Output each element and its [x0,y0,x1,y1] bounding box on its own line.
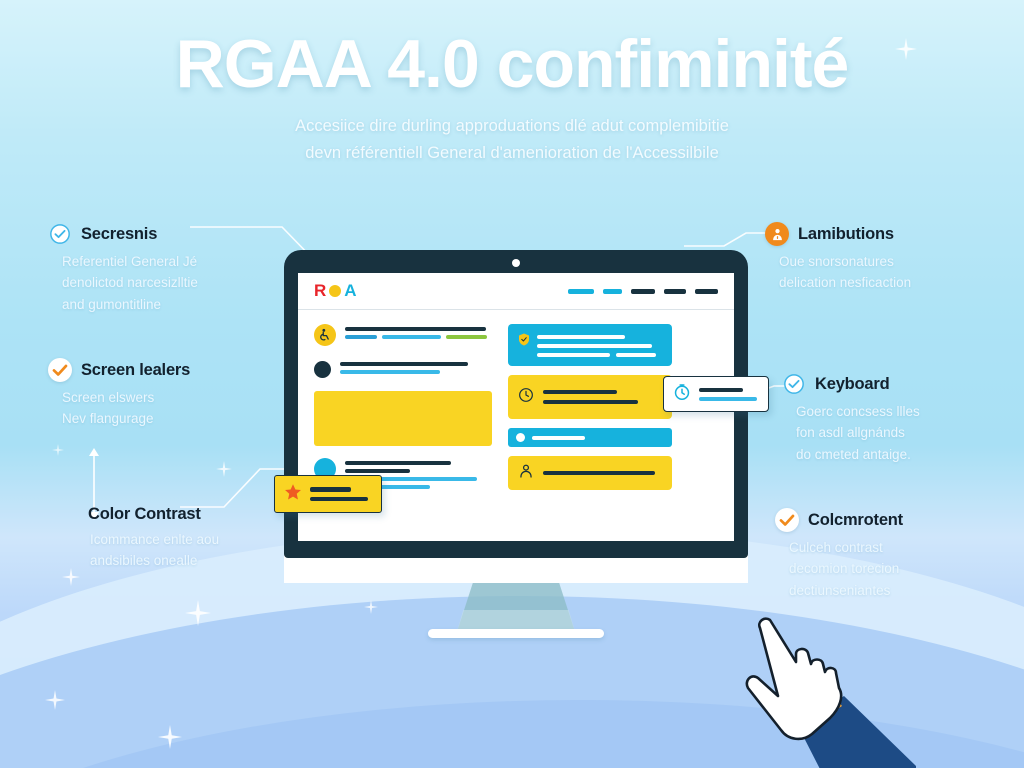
note-body-line2: delication nesficaction [779,272,990,293]
note-screen-lealers[interactable]: Screen lealers Screen elswers Nev flangu… [48,358,273,430]
text-bar [340,362,468,366]
content-row-accessibility[interactable] [314,324,492,346]
webcam-icon [512,259,520,267]
wheelchair-accessibility-icon [314,324,336,346]
note-header: Colcmrotent [775,508,1000,532]
shield-check-yellow-icon [518,333,530,357]
note-body: Referentiel General Jé denolictod narces… [48,251,273,315]
page-subtitle-line2: devn référentiell General d'amenioration… [0,140,1024,167]
stopwatch-cyan-icon [673,383,691,406]
sparkle-icon [185,600,211,626]
text-bar [345,335,377,339]
text-bar [537,353,610,357]
text-bar [345,469,410,473]
clock-dark-icon [518,387,534,408]
site-nav-links [568,289,718,294]
note-body-line3: dectiunseniantes [789,580,1000,601]
warning-person-orange-icon [765,222,789,246]
site-navbar: R A [298,273,734,310]
note-title: Lamibutions [798,225,894,244]
note-header: Secresnis [48,222,273,246]
note-body-line2: Nev flangurage [62,408,273,429]
note-body-line2: denolictod narcesizlltie [62,272,273,293]
nav-link-2[interactable] [603,289,622,294]
card-user-yellow[interactable] [508,456,672,490]
text-bar [345,461,451,465]
note-header: Keyboard [782,372,1007,396]
text-bar [345,327,486,331]
card-status-cyan[interactable] [508,428,672,447]
text-bar [616,353,656,357]
nav-link-4[interactable] [664,289,686,294]
text-bar [699,397,757,401]
text-bar [340,370,440,374]
note-body-line1: Icommance enlte aou [90,529,288,550]
note-body: Goerc concsess llles fon asdl allgnánds … [782,401,1007,465]
note-body: Oue snorsonatures delication nesficactio… [765,251,990,294]
note-header: Color Contrast [88,505,288,524]
page-header: RGAA 4.0 confiminité Accesiice dire durl… [0,28,1024,167]
note-body: Culceh contrast decomion torecion dectiu… [775,537,1000,601]
sparkle-icon [52,444,64,456]
note-title: Colcmrotent [808,511,903,530]
sparkle-icon [216,461,232,477]
note-body-line1: Goerc concsess llles [796,401,1007,422]
note-body-line3: do cmeted antaige. [796,444,1007,465]
logo-letter-a: A [344,281,356,301]
text-bar [543,400,638,404]
text-bar [382,335,441,339]
card-text-bars [537,333,662,357]
note-body-line1: Culceh contrast [789,537,1000,558]
content-text-bars [340,359,492,374]
callout-text-bars [699,388,759,401]
page-title: RGAA 4.0 confiminité [0,28,1024,101]
note-title: Keyboard [815,375,890,394]
note-body: Screen elswers Nev flangurage [48,387,273,430]
text-bar-row [537,353,662,357]
card-time-yellow[interactable] [508,375,672,419]
note-keyboard[interactable]: Keyboard Goerc concsess llles fon asdl a… [782,372,1007,465]
content-right-column [508,324,672,502]
text-bar [543,390,617,394]
callout-text-bars [310,487,372,501]
note-body-line2: decomion torecion [789,558,1000,579]
note-colcmrotent[interactable]: Colcmrotent Culceh contrast decomion tor… [775,508,1000,601]
content-text-bars [345,324,492,339]
note-body: Icommance enlte aou andsibiles onealle [88,529,288,572]
note-body-line2: andsibiles onealle [90,550,288,571]
nav-link-3[interactable] [631,289,655,294]
content-placeholder-block[interactable] [314,391,492,446]
check-circle-orange-icon [775,508,799,532]
site-logo[interactable]: R A [314,281,357,301]
text-bar [446,335,487,339]
content-row-secondary[interactable] [314,359,492,378]
logo-letter-r: R [314,281,326,301]
logo-dot-icon [329,285,341,297]
star-orange-icon [284,483,302,506]
sparkle-icon [62,568,80,586]
note-title: Secresnis [81,225,157,244]
note-title: Color Contrast [88,505,201,524]
sparkle-icon [158,725,182,749]
text-bar [310,497,368,502]
nav-link-5[interactable] [695,289,718,294]
note-title: Screen lealers [81,361,190,380]
page-subtitle-line1: Accesiice dire durling approduations dlé… [0,113,1024,140]
card-text-bars [543,390,662,404]
note-body-line3: and gumontitline [62,294,273,315]
user-person-icon [518,463,534,484]
note-header: Lamibutions [765,222,990,246]
dot-white-icon [516,433,525,442]
text-bar [543,471,655,475]
text-bar [699,388,743,393]
note-header: Screen lealers [48,358,273,382]
check-circle-blue-icon [782,372,806,396]
page-subtitle: Accesiice dire durling approduations dlé… [0,113,1024,166]
text-bar-row [345,335,492,339]
note-body-line1: Oue snorsonatures [779,251,990,272]
check-circle-orange-icon [48,358,72,382]
note-lamibutions[interactable]: Lamibutions Oue snorsonatures delication… [765,222,990,294]
pointing-hand-cursor [726,608,916,768]
text-bar [532,436,585,440]
speed-callout[interactable] [663,376,769,412]
sparkle-icon [45,690,65,710]
nav-link-1[interactable] [568,289,594,294]
text-bar [310,487,351,492]
card-info-cyan[interactable] [508,324,672,366]
note-color-contrast[interactable]: Color Contrast Icommance enlte aou andsi… [88,505,288,572]
sparkle-icon [364,600,378,614]
text-bar [537,335,625,339]
note-body-line1: Screen elswers [62,387,273,408]
note-body-line2: fon asdl allgnánds [796,422,1007,443]
note-body-line1: Referentiel General Jé [62,251,273,272]
dark-dot-icon [314,361,331,378]
note-secresnis[interactable]: Secresnis Referentiel General Jé denolic… [48,222,273,315]
check-circle-blue-icon [48,222,72,246]
text-bar [537,344,652,348]
monitor-base [428,629,604,638]
star-callout[interactable] [274,475,382,513]
